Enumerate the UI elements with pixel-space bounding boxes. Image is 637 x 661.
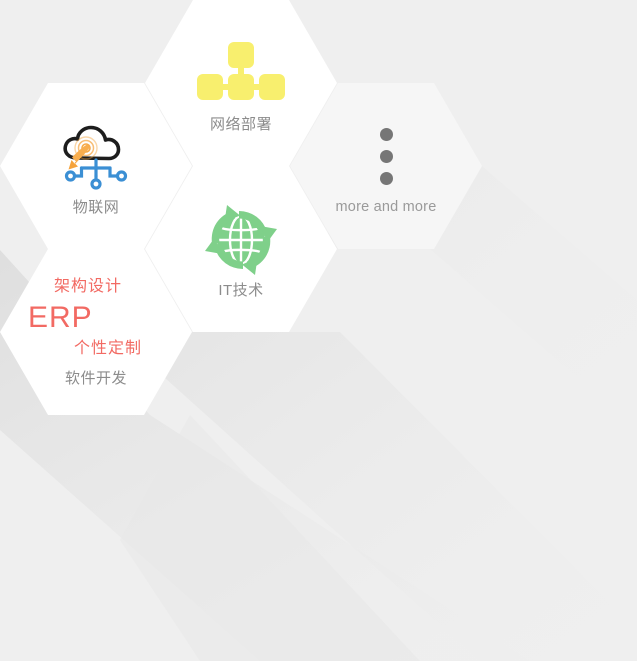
hex-label-more: more and more: [336, 200, 437, 215]
hex-label-network: 网络部署: [210, 117, 272, 132]
dot-3: [380, 172, 393, 185]
three-dots-icon: [380, 118, 393, 196]
keyword-erp: ERP: [28, 303, 93, 333]
keyword-stack: 架构设计 ERP 个性定制: [26, 279, 166, 367]
hex-label-software: 软件开发: [65, 371, 127, 386]
cloud-touch-iot-icon: [59, 118, 133, 196]
keyword-custom-made: 个性定制: [74, 341, 142, 357]
globe-refresh-icon: [199, 201, 283, 279]
software-keywords: 架构设计 ERP 个性定制: [26, 279, 166, 365]
hex-label-iot: 物联网: [73, 200, 120, 215]
network-topology-icon: [195, 35, 287, 113]
keyword-architecture-design: 架构设计: [54, 279, 122, 295]
hex-label-it: IT技术: [218, 283, 263, 298]
dot-1: [380, 128, 393, 141]
dot-2: [380, 150, 393, 163]
hexagon-service-grid: 物联网 网络部署: [0, 0, 637, 661]
